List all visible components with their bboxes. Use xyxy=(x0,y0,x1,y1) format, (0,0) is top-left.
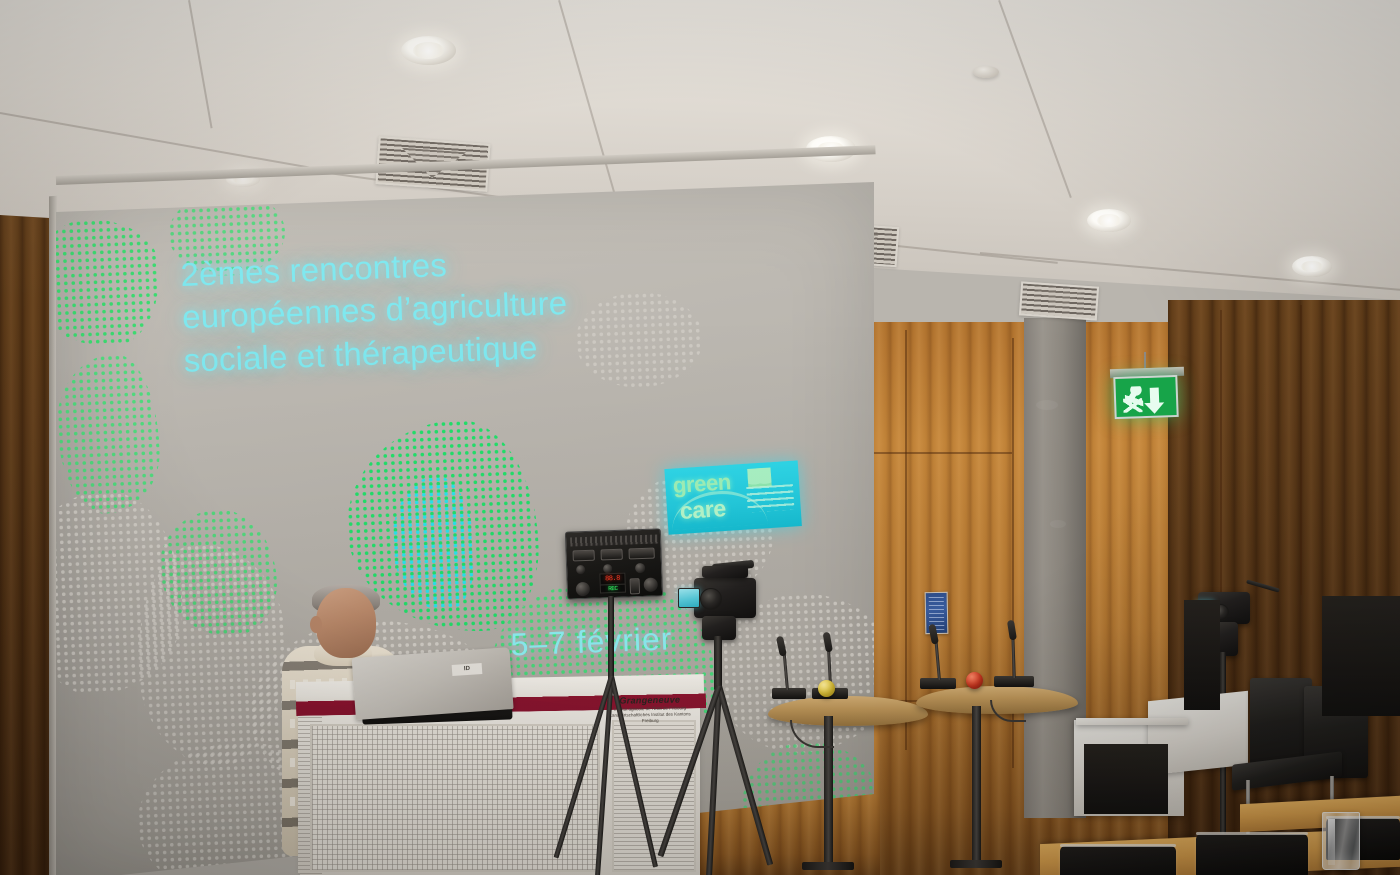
mixer-port[interactable] xyxy=(628,548,654,560)
wood-panel-seam xyxy=(862,452,1012,454)
conference-room-photo: 2èmes rencontres européennes d’agricultu… xyxy=(0,0,1400,875)
laptop-screen[interactable] xyxy=(352,647,514,720)
audience-chair[interactable] xyxy=(1060,846,1176,875)
tripod-column xyxy=(714,636,722,690)
camera-handle xyxy=(702,566,748,578)
exit-arrow-down-icon xyxy=(1150,388,1160,404)
camera-lcd-screen[interactable] xyxy=(678,588,700,608)
ceiling-downlight xyxy=(401,36,456,65)
presenter-head xyxy=(316,588,376,658)
logo-subtitle-lines xyxy=(746,484,794,512)
mixer-port[interactable] xyxy=(573,550,595,562)
mixer-port[interactable] xyxy=(600,549,622,561)
tripod-column xyxy=(608,596,614,682)
hvac-vent xyxy=(1019,281,1099,320)
dark-gap xyxy=(1184,600,1220,710)
table-ball-red[interactable] xyxy=(966,672,983,689)
dark-doorway xyxy=(1322,596,1400,716)
slide-date: 5–7 février xyxy=(510,622,673,664)
wood-panel-seam xyxy=(1220,310,1222,630)
water-glass[interactable] xyxy=(1322,812,1360,870)
wood-panel-seam xyxy=(905,330,907,750)
audience-chair[interactable] xyxy=(1196,834,1308,875)
mixer-led-status: REC xyxy=(600,584,626,594)
mixer-fader[interactable] xyxy=(630,578,641,594)
ceiling-downlight xyxy=(1292,256,1332,277)
wood-panel-seam xyxy=(1300,305,1302,595)
dot-map-blob xyxy=(56,217,162,349)
table-edge xyxy=(1076,718,1188,725)
green-care-logo: green care xyxy=(664,460,802,534)
laptop-sticker: ID xyxy=(452,663,483,676)
mixer-knob[interactable] xyxy=(603,564,612,573)
ceiling-downlight xyxy=(1087,209,1131,232)
audio-mixer[interactable]: 88.8 REC xyxy=(565,528,663,599)
wood-wall-far-right xyxy=(1168,300,1400,875)
pillar-texture xyxy=(1036,400,1058,410)
mixer-label-strip xyxy=(570,534,658,546)
mixer-knob[interactable] xyxy=(635,563,645,573)
logo-word-care: care xyxy=(679,495,727,526)
smoke-detector xyxy=(973,66,999,78)
mixer-knob[interactable] xyxy=(576,565,585,574)
microphone-base xyxy=(772,688,806,699)
table-ball-yellow[interactable] xyxy=(818,680,835,697)
mixer-knob-large[interactable] xyxy=(576,582,590,596)
slide-title: 2èmes rencontres européennes d’agricultu… xyxy=(180,232,778,382)
folded-table-underside xyxy=(1084,744,1168,814)
pillar-texture xyxy=(1050,520,1066,528)
presenter-ear xyxy=(310,616,322,633)
camera-lens xyxy=(700,588,722,610)
table-foot xyxy=(950,860,1002,868)
mixer-knob-large[interactable] xyxy=(644,577,658,591)
table-stem xyxy=(972,706,981,866)
table-foot xyxy=(802,862,854,870)
dot-map-blob xyxy=(56,353,162,516)
emergency-exit-icon xyxy=(1113,375,1178,419)
